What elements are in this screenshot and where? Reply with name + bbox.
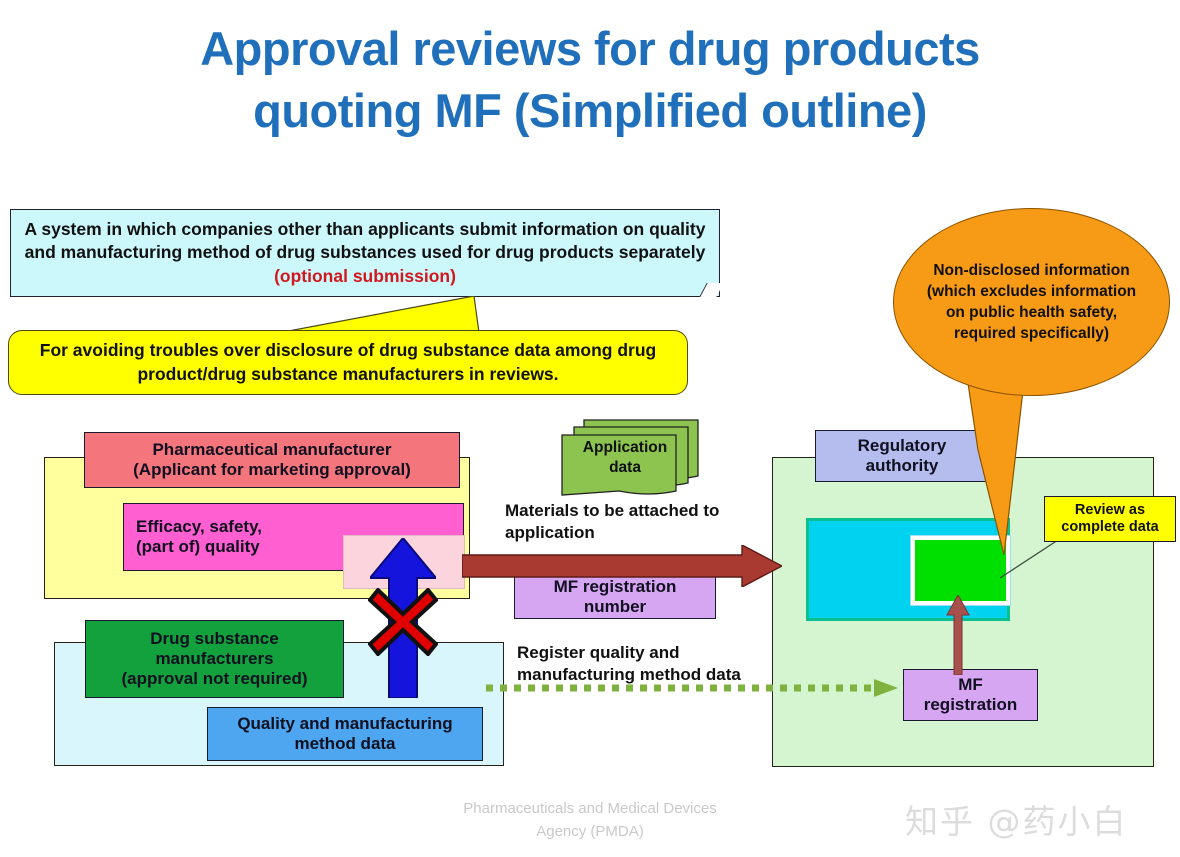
non-disclosed-info-callout: Non-disclosed information (which exclude… [893,208,1170,396]
pharma-line-2: (Applicant for marketing approval) [133,460,411,479]
drug-substance-manufacturers-box: Drug substance manufacturers (approval n… [85,620,344,698]
pharma-line-1: Pharmaceutical manufacturer [152,440,391,459]
title-line-1: Approval reviews for drug products [0,18,1180,80]
optional-submission-text: (optional submission) [274,266,456,286]
submission-arrow-icon [462,545,782,587]
register-line-1: Register quality and [517,643,679,662]
materials-line-1: Materials to be attached to [505,501,719,520]
drug-sub-line-2: manufacturers [155,649,273,668]
efficacy-line-2: (part of) quality [136,537,260,556]
zhihu-watermark: 知乎 @药小白 [905,795,1170,843]
quality-manufacturing-data-box: Quality and manufacturing method data [207,707,483,761]
mf-reg-line-2: registration [924,695,1018,714]
footer-source: Pharmaceuticals and Medical Devices Agen… [340,798,840,843]
mf-registration-dotted-arrow-icon [486,676,898,700]
drug-sub-line-1: Drug substance [150,629,278,648]
purpose-callout-text: For avoiding troubles over disclosure of… [19,339,677,385]
mf-registration-box: MF registration [903,669,1038,721]
footer-line-1: Pharmaceuticals and Medical Devices [463,800,716,817]
materials-line-2: application [505,523,595,542]
app-data-line-1: Application [583,439,667,456]
quality-line-2: method data [294,734,395,753]
blocked-cross-icon [368,588,438,656]
authority-line-1: Regulatory [858,436,947,455]
non-disclosed-info-text: Non-disclosed information (which exclude… [916,260,1147,344]
efficacy-line-1: Efficacy, safety, [136,517,262,536]
title-line-2: quoting MF (Simplified outline) [0,80,1180,142]
definition-text: A system in which companies other than a… [25,219,706,262]
definition-callout: A system in which companies other than a… [10,209,720,297]
mf-reg-line-1: MF [958,675,983,694]
pharmaceutical-manufacturer-box: Pharmaceutical manufacturer (Applicant f… [84,432,460,488]
quality-line-1: Quality and manufacturing [237,714,452,733]
mf-num-line-2: number [584,597,646,616]
footer-line-2: Agency (PMDA) [536,823,644,840]
drug-sub-line-3: (approval not required) [121,669,307,688]
app-data-line-2: data [609,459,641,476]
page-title: Approval reviews for drug products quoti… [0,18,1180,142]
materials-attached-label: Materials to be attached to application [505,500,765,544]
mf-data-link-arrow-icon [945,595,971,675]
authority-line-2: authority [866,456,939,475]
application-data-label: Application data [570,438,680,478]
diagram-canvas: Approval reviews for drug products quoti… [0,0,1180,857]
purpose-callout: For avoiding troubles over disclosure of… [8,330,688,395]
